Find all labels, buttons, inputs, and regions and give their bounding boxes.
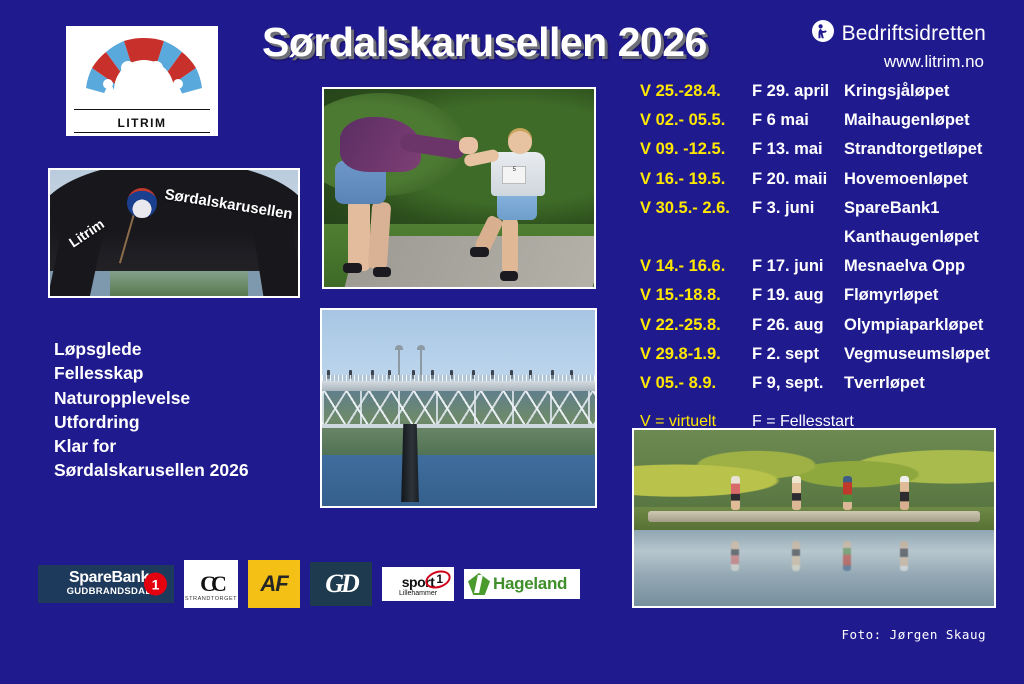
trail-causeway	[648, 511, 979, 522]
trail-runner	[792, 476, 801, 510]
schedule-race-name: Vegmuseumsløpet	[844, 345, 990, 364]
trail-water	[634, 530, 994, 606]
schedule-row: V 05.- 8.9. F 9, sept. Tverrløpet	[640, 374, 1010, 403]
schedule-race-name: Olympiaparkløpet	[844, 316, 983, 335]
bridge-pier	[401, 424, 419, 502]
sparebank-one-badge: 1	[144, 573, 167, 596]
schedule-virtual-date: V 25.-28.4.	[640, 82, 752, 101]
trail-runner	[900, 476, 909, 510]
boy-shoe-back	[470, 247, 489, 257]
schedule-virtual-date: V 02.- 05.5.	[640, 111, 752, 130]
gd-glyph: GD	[325, 569, 357, 599]
schedule-virtual-date: V 15.-18.8.	[640, 286, 752, 305]
schedule-race-name: Maihaugenløpet	[844, 111, 970, 130]
trail-runner	[731, 476, 740, 510]
sponsor-row: SpareBank GUDBRANDSDAL 1 CC STRANDTORGET…	[38, 560, 580, 608]
schedule-row: V 14.- 16.6. F 17. juni Mesnaelva Opp	[640, 257, 1010, 286]
schedule-virtual-date: V 29.8-1.9.	[640, 345, 752, 364]
sparebank-region: GUDBRANDSDAL	[67, 586, 152, 598]
schedule-virtual-date: V 16.- 19.5.	[640, 170, 752, 189]
schedule-row: V 09. -12.5. F 13. mai Strandtorgetløpet	[640, 140, 1010, 169]
woman-shoe	[343, 263, 362, 273]
litrim-logo: LITRIM	[66, 26, 218, 136]
values-list: Løpsglede Fellesskap Naturopplevelse Utf…	[54, 337, 249, 483]
brand-row: Bedriftsidretten	[812, 20, 986, 47]
schedule-race-name: Hovemoenløpet	[844, 170, 968, 189]
schedule-race-name: Flømyrløpet	[844, 286, 938, 305]
litrim-sunburst-icon	[68, 28, 216, 106]
schedule-fellesstart-date: F 3. juni	[752, 199, 844, 218]
logo-divider-top	[74, 109, 210, 110]
sponsor-hageland[interactable]: Hageland	[464, 569, 580, 599]
bridge-lower-chord	[322, 424, 595, 428]
schedule-virtual-date: V 05.- 8.9.	[640, 374, 752, 393]
bridge-water	[322, 455, 595, 506]
boy-race-bib: 5	[502, 166, 526, 184]
schedule-virtual-date: V 30.5.- 2.6.	[640, 199, 752, 218]
bedriftsidretten-brand: Bedriftsidretten www.litrim.no	[812, 20, 986, 72]
poster-canvas: LITRIM Sørdalskarusellen 2026 Bedriftsid…	[0, 0, 1024, 684]
schedule-virtual-date: V 14.- 16.6.	[640, 257, 752, 276]
schedule-race-name: SpareBank1	[844, 199, 939, 218]
value-line: Klar for	[54, 434, 249, 458]
sponsor-af[interactable]: AF	[248, 560, 300, 608]
schedule-fellesstart-date: F 19. aug	[752, 286, 844, 305]
photo-bridge	[320, 308, 597, 508]
schedule-race-name: Strandtorgetløpet	[844, 140, 982, 159]
brand-url: www.litrim.no	[812, 52, 984, 72]
photo-start-arch: Sørdalskarusellen Litrim	[48, 168, 300, 298]
boy-shorts	[497, 192, 538, 220]
woman-hand	[459, 137, 478, 155]
bedriftsidretten-icon	[812, 20, 834, 47]
sport1-location: Lillehammer	[399, 589, 437, 598]
schedule-fellesstart-date: F 6 mai	[752, 111, 844, 130]
boy-leg	[502, 218, 518, 273]
schedule-row: V 30.5.- 2.6. F 3. juni SpareBank1	[640, 199, 1010, 228]
schedule-virtual-date: V 22.-25.8.	[640, 316, 752, 335]
value-line: Løpsglede	[54, 337, 249, 361]
schedule-fellesstart-date: F 26. aug	[752, 316, 844, 335]
photo-trail-runners	[632, 428, 996, 608]
sponsor-sport1-lillehammer[interactable]: 1 sport Lillehammer	[382, 567, 454, 601]
page-title: Sørdalskarusellen 2026	[262, 19, 802, 66]
schedule-race-name: Tverrløpet	[844, 374, 925, 393]
schedule-fellesstart-date: F 17. juni	[752, 257, 844, 276]
sparebank-wordmark: SpareBank	[69, 570, 149, 586]
schedule-fellesstart-date: F 29. april	[752, 82, 844, 101]
legend-fellesstart: F = Fellesstart	[752, 413, 854, 431]
litrim-wordmark: LITRIM	[68, 116, 216, 130]
value-line: Fellesskap	[54, 361, 249, 385]
value-line: Sørdalskarusellen 2026	[54, 458, 249, 482]
schedule-row-continuation: Kanthaugenløpet	[640, 228, 1010, 257]
brand-name: Bedriftsidretten	[842, 22, 986, 46]
bridge-truss	[322, 391, 595, 424]
schedule-race-name: Kringsjåløpet	[844, 82, 949, 101]
arch-litrim-badge-icon	[127, 188, 157, 218]
sport1-badge: 1	[436, 572, 443, 586]
race-schedule: V 25.-28.4. F 29. april Kringsjåløpet V …	[640, 82, 1010, 431]
schedule-race-name: Kanthaugenløpet	[844, 228, 979, 247]
photo-high-five: 5	[322, 87, 596, 289]
hageland-leaf-icon	[468, 573, 490, 595]
schedule-fellesstart-date: F 20. maii	[752, 170, 844, 189]
woman-shoe-back	[373, 267, 392, 277]
schedule-virtual-date: V 09. -12.5.	[640, 140, 752, 159]
schedule-row: V 02.- 05.5. F 6 mai Maihaugenløpet	[640, 111, 1010, 140]
sponsor-gd[interactable]: GD	[310, 562, 372, 606]
boy-shoe	[500, 271, 519, 281]
schedule-race-name: Mesnaelva Opp	[844, 257, 965, 276]
trail-runner	[843, 476, 852, 510]
schedule-row: V 29.8-1.9. F 2. sept Vegmuseumsløpet	[640, 345, 1010, 374]
value-line: Naturopplevelse	[54, 386, 249, 410]
woman-leg	[348, 200, 370, 271]
trail-runner-reflection	[900, 541, 908, 571]
trail-runner-reflection	[792, 541, 800, 571]
schedule-row: V 16.- 19.5. F 20. maii Hovemoenløpet	[640, 170, 1010, 199]
schedule-row: V 15.-18.8. F 19. aug Flømyrløpet	[640, 286, 1010, 315]
schedule-fellesstart-date: F 9, sept.	[752, 374, 844, 393]
sponsor-sparebank1-gudbrandsdal[interactable]: SpareBank GUDBRANDSDAL 1	[38, 565, 174, 603]
boy-head	[508, 131, 532, 155]
cc-subtitle: STRANDTORGET	[185, 596, 237, 602]
cc-glyph: CC	[200, 573, 222, 595]
trail-runner-reflection	[843, 541, 851, 571]
schedule-row: V 25.-28.4. F 29. april Kringsjåløpet	[640, 82, 1010, 111]
schedule-fellesstart-date: F 13. mai	[752, 140, 844, 159]
legend-virtual: V = virtuelt	[640, 413, 752, 431]
logo-divider-bottom	[74, 132, 210, 133]
schedule-legend: V = virtuelt F = Fellesstart	[640, 413, 1010, 431]
schedule-row: V 22.-25.8. F 26. aug Olympiaparkløpet	[640, 316, 1010, 345]
trail-runner-reflection	[731, 541, 739, 571]
bridge-deck	[322, 381, 595, 392]
sponsor-cc-strandtorget[interactable]: CC STRANDTORGET	[184, 560, 238, 608]
af-glyph: AF	[260, 571, 287, 597]
value-line: Utfordring	[54, 410, 249, 434]
photo-credit: Foto: Jørgen Skaug	[842, 627, 986, 642]
schedule-fellesstart-date: F 2. sept	[752, 345, 844, 364]
hageland-wordmark: Hageland	[493, 574, 567, 594]
